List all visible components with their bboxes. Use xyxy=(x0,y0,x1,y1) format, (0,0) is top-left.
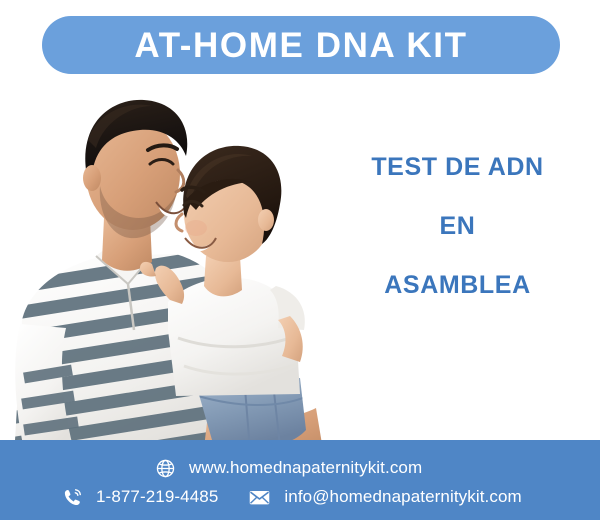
headline-line-2: EN xyxy=(330,214,585,239)
phone-label[interactable]: 1-877-219-4485 xyxy=(96,487,218,507)
phone-icon xyxy=(62,487,83,508)
headline-line-3: ASAMBLEA xyxy=(330,273,585,298)
globe-icon xyxy=(155,458,176,479)
website-label[interactable]: www.homednapaternitykit.com xyxy=(189,458,422,478)
envelope-icon xyxy=(248,486,271,509)
headline-line-1: TEST DE ADN xyxy=(330,155,585,180)
family-photo-illustration xyxy=(0,78,330,458)
header-banner: AT-HOME DNA KIT xyxy=(42,16,560,74)
footer-website-row: www.homednapaternitykit.com xyxy=(155,455,422,481)
footer-contact-row: 1-877-219-4485 info@homednapaternitykit.… xyxy=(62,484,522,510)
headline-block: TEST DE ADN EN ASAMBLEA xyxy=(330,155,585,298)
poster-canvas: AT-HOME DNA KIT xyxy=(0,0,600,520)
header-title: AT-HOME DNA KIT xyxy=(134,28,467,63)
family-photo xyxy=(0,78,330,458)
footer-notch xyxy=(0,440,276,456)
email-label[interactable]: info@homednapaternitykit.com xyxy=(284,487,521,507)
